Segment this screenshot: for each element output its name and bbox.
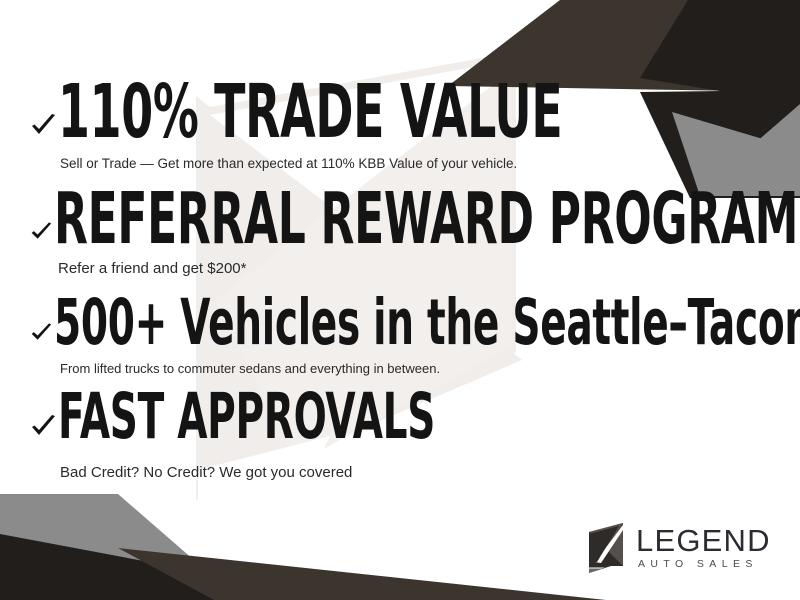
promo-banner: 110% TRADE VALUE Sell or Trade — Get mor… (0, 0, 800, 600)
feature-item-referral-reward: REFERRAL REWARD PROGRAM Refer a friend a… (30, 184, 800, 277)
check-icon (30, 414, 56, 440)
feature-subtitle: From lifted trucks to commuter sedans an… (60, 361, 800, 376)
feature-headline-row: FAST APPROVALS (30, 386, 666, 448)
brand-name: LEGEND (636, 526, 771, 556)
feature-headline-row: 110% TRADE VALUE (30, 76, 800, 149)
feature-item-fast-approvals: FAST APPROVALS Bad Credit? No Credit? We… (30, 386, 666, 481)
brand-logo: LEGEND AUTO SALES (585, 522, 771, 574)
feature-subtitle: Bad Credit? No Credit? We got you covere… (60, 464, 666, 481)
brand-tagline: AUTO SALES (638, 558, 771, 570)
check-icon (30, 221, 52, 243)
feature-subtitle: Refer a friend and get $200* (58, 260, 800, 277)
feature-title: 500+ Vehicles in the Seattle–Tacoma area (54, 292, 800, 354)
check-icon (30, 113, 56, 139)
brand-wordmark: LEGEND AUTO SALES (636, 526, 771, 571)
feature-subtitle: Sell or Trade — Get more than expected a… (60, 156, 800, 171)
feature-headline-row: 500+ Vehicles in the Seattle–Tacoma area (30, 292, 800, 354)
feature-item-inventory: 500+ Vehicles in the Seattle–Tacoma area… (30, 292, 800, 376)
feature-title: 110% TRADE VALUE (58, 76, 562, 149)
legend-chevron-mark-icon (585, 522, 627, 574)
feature-headline-row: REFERRAL REWARD PROGRAM (30, 184, 800, 254)
feature-title: FAST APPROVALS (58, 386, 435, 448)
feature-list: 110% TRADE VALUE Sell or Trade — Get mor… (0, 0, 800, 600)
check-icon (30, 322, 52, 344)
feature-title: REFERRAL REWARD PROGRAM (54, 184, 798, 254)
feature-item-trade-value: 110% TRADE VALUE Sell or Trade — Get mor… (30, 76, 800, 171)
